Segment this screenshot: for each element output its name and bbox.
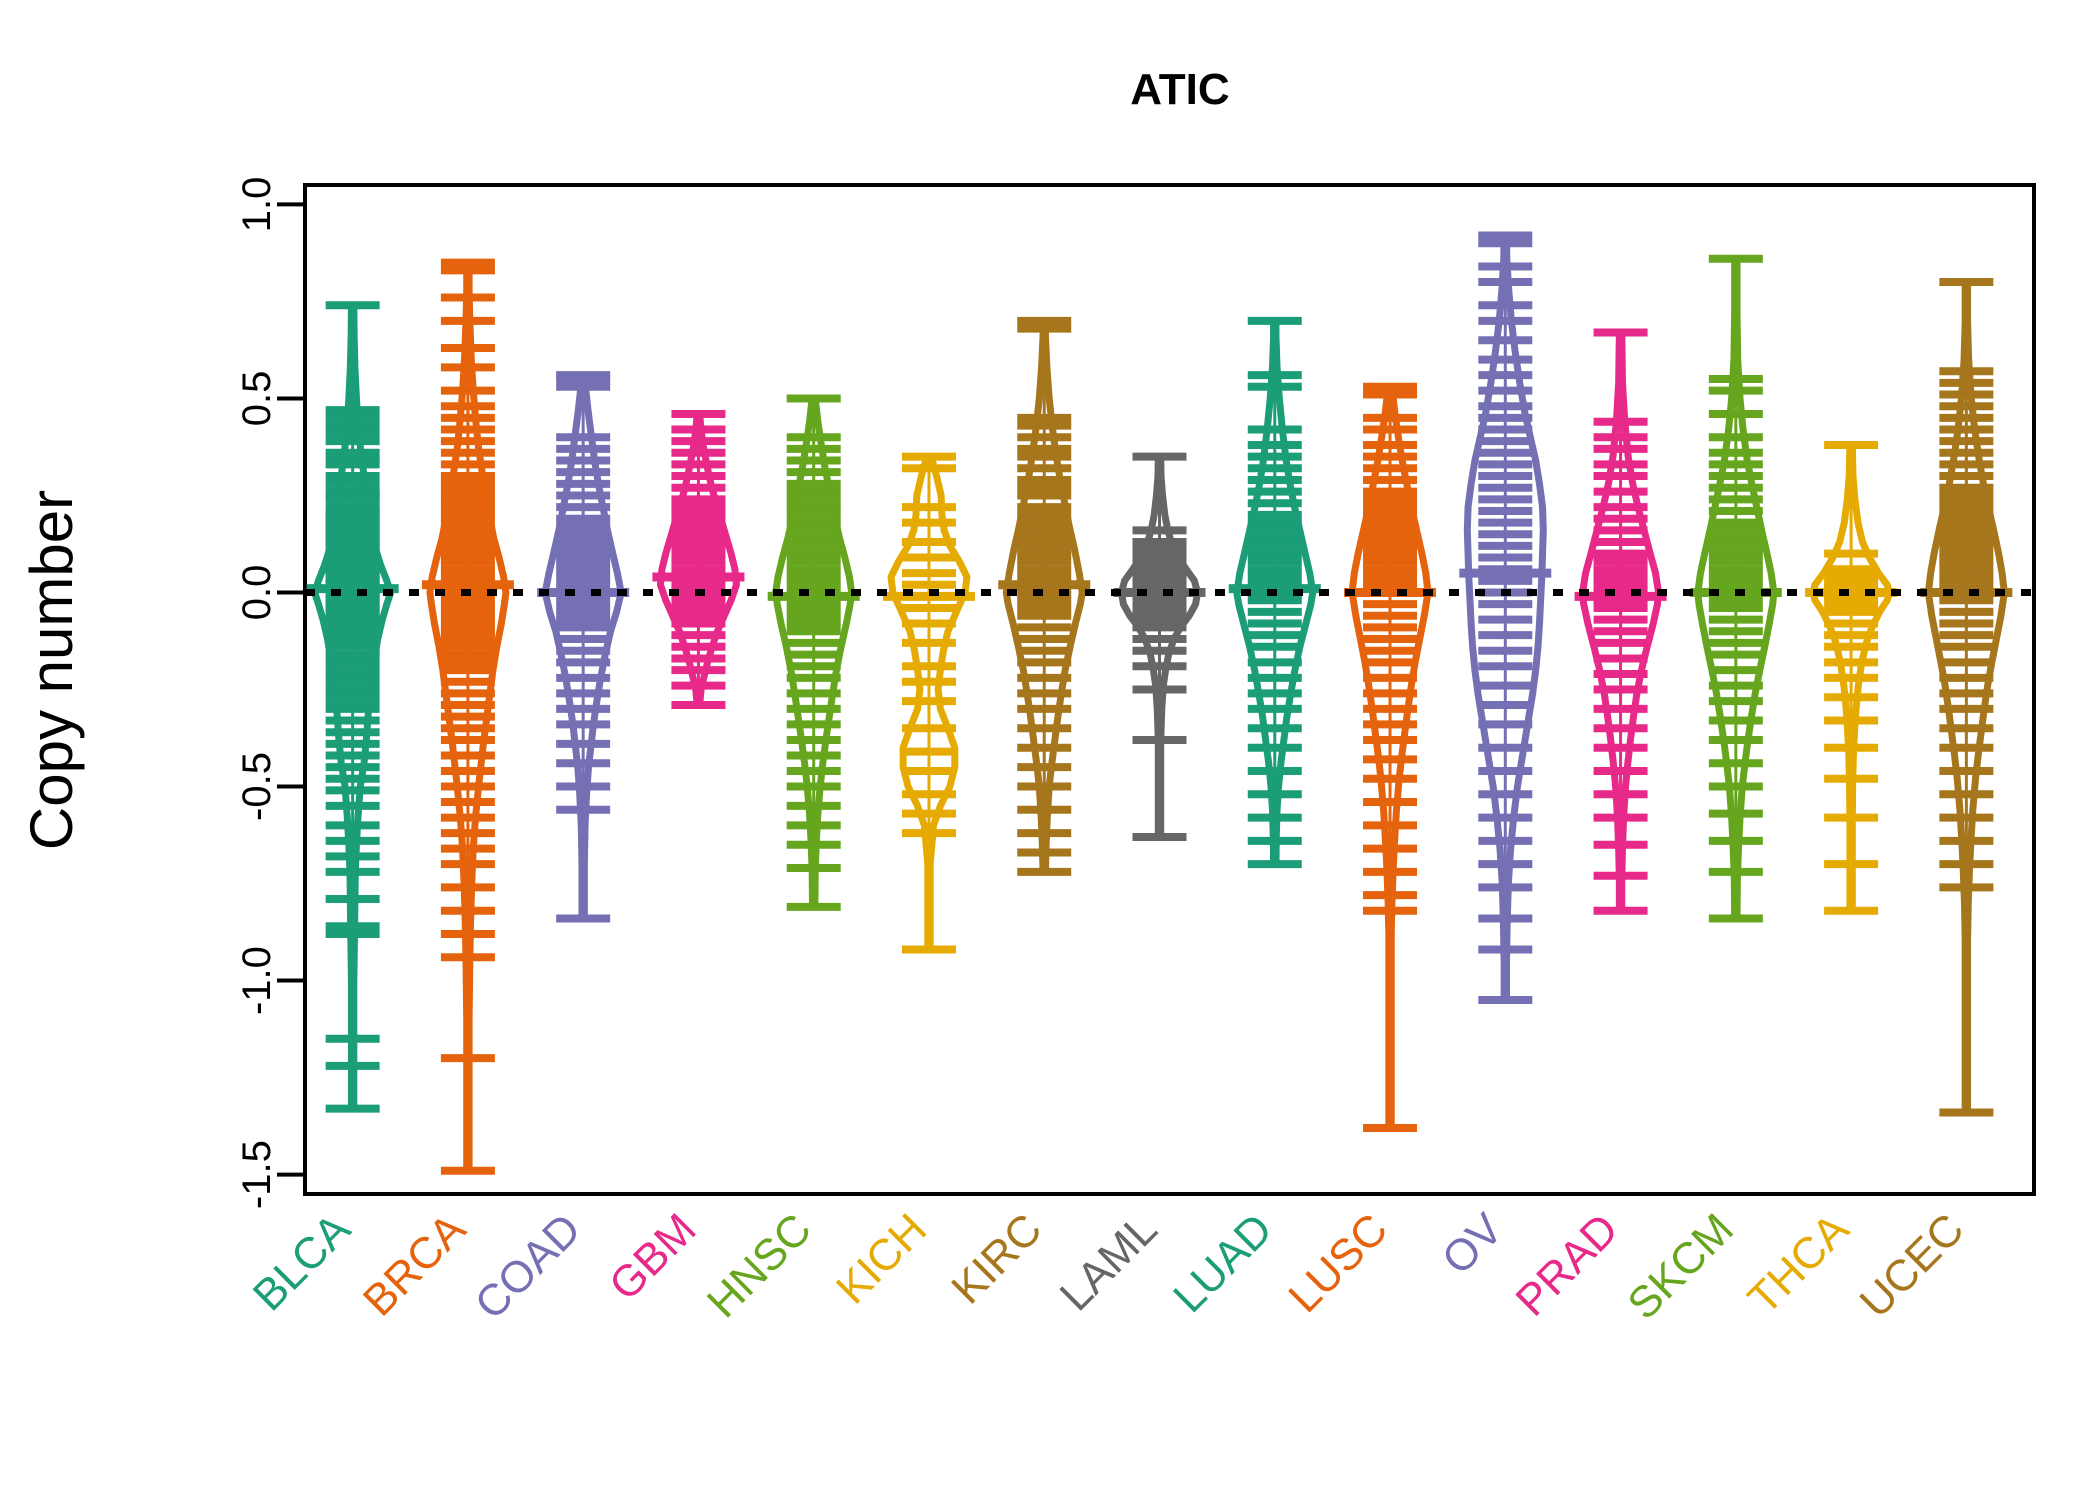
x-tick-label-kich: KICH (827, 1204, 936, 1313)
chart-title: ATIC (1130, 65, 1229, 114)
x-tick-label-lusc: LUSC (1279, 1204, 1397, 1322)
x-tick-label-coad: COAD (466, 1204, 591, 1329)
violin-blca (307, 305, 399, 1108)
x-tick-label-thca: THCA (1739, 1204, 1859, 1324)
chart-root: ATIC Copy number 1.00.50.0-0.5-1.0-1.5 B… (0, 0, 2100, 1500)
violin-ucec (1920, 282, 2012, 1112)
violin-brca (422, 263, 514, 1171)
violin-laml (1114, 457, 1206, 837)
y-tick-label: -1.0 (235, 946, 279, 1015)
x-axis-labels: BLCABRCACOADGBMHNSCKICHKIRCLAMLLUADLUSCO… (244, 1204, 1974, 1329)
violin-chart: ATIC Copy number 1.00.50.0-0.5-1.0-1.5 B… (0, 0, 2100, 1500)
y-tick-label: 1.0 (235, 177, 279, 233)
x-tick-label-laml: LAML (1051, 1204, 1167, 1320)
violin-coad (537, 375, 629, 918)
x-tick-label-kirc: KIRC (942, 1204, 1051, 1313)
violin-kirc (998, 321, 1090, 872)
violin-gbm (652, 414, 744, 705)
x-tick-label-ucec: UCEC (1851, 1204, 1974, 1327)
violin-hnsc (768, 398, 860, 906)
y-tick-label: 0.0 (235, 565, 279, 621)
y-tick-label: 0.5 (235, 371, 279, 427)
y-tick-label: -1.5 (235, 1140, 279, 1209)
x-tick-label-luad: LUAD (1164, 1204, 1282, 1322)
x-tick-label-ov: OV (1433, 1204, 1513, 1284)
y-axis-ticks: 1.00.50.0-0.5-1.0-1.5 (235, 177, 305, 1209)
y-axis-label: Copy number (18, 490, 85, 850)
violin-ov (1459, 235, 1551, 1000)
violin-series-group (307, 235, 2013, 1170)
y-tick-label: -0.5 (235, 752, 279, 821)
violin-thca (1805, 445, 1897, 911)
x-tick-label-prad: PRAD (1507, 1204, 1628, 1325)
x-tick-label-skcm: SKCM (1618, 1204, 1743, 1329)
violin-skcm (1690, 259, 1782, 919)
x-tick-label-gbm: GBM (600, 1204, 706, 1310)
x-tick-label-blca: BLCA (244, 1204, 360, 1320)
x-tick-label-hnsc: HNSC (698, 1204, 821, 1327)
violin-lusc (1344, 387, 1436, 1128)
violin-kich (883, 457, 975, 950)
x-tick-label-brca: BRCA (354, 1204, 476, 1326)
violin-prad (1575, 332, 1667, 910)
